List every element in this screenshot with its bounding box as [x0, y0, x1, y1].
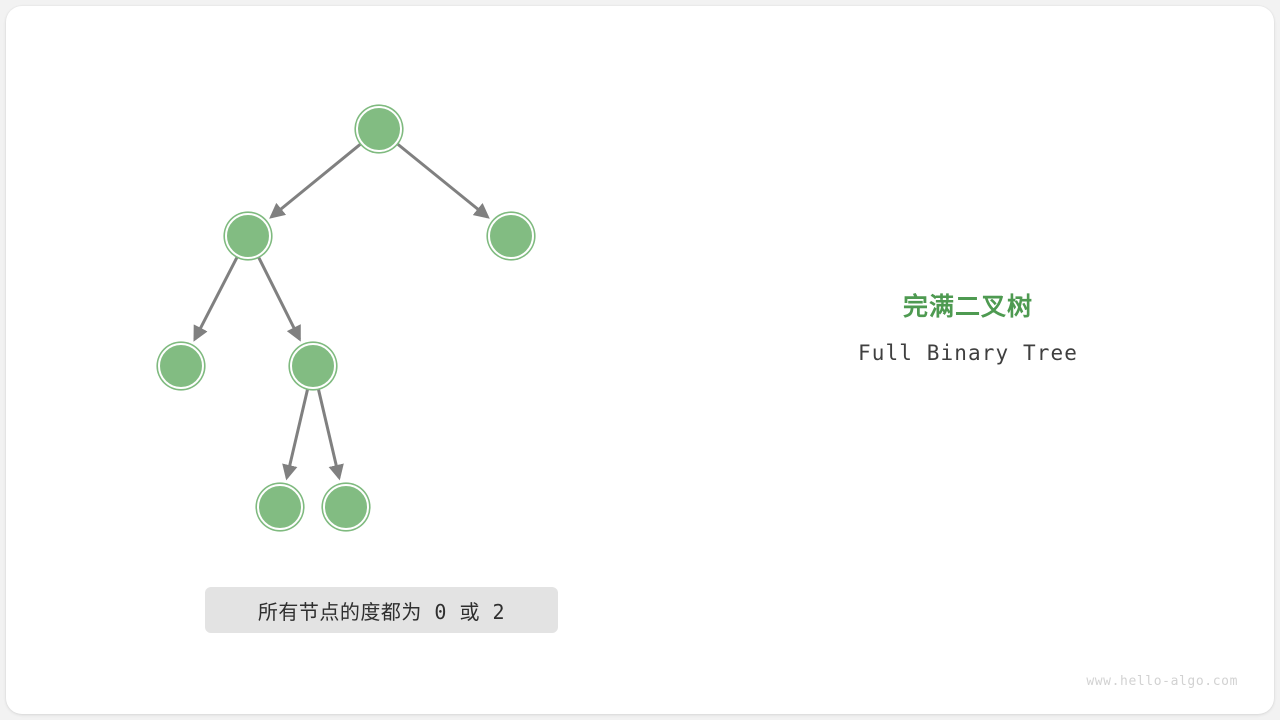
tree-node-n2 — [488, 213, 534, 259]
site-watermark: www.hello-algo.com — [1086, 674, 1238, 689]
diagram-page: 完满二叉树 Full Binary Tree 所有节点的度都为 0 或 2 ww… — [0, 0, 1280, 720]
tree-node-n5 — [257, 484, 303, 530]
tree-node-n1 — [225, 213, 271, 259]
tree-title-cn: 完满二叉树 — [768, 292, 1168, 322]
caption-chip: 所有节点的度都为 0 或 2 — [205, 587, 558, 633]
tree-node-n6 — [323, 484, 369, 530]
tree-node-n3 — [158, 343, 204, 389]
tree-title-en: Full Binary Tree — [768, 341, 1168, 365]
tree-node-n4 — [290, 343, 336, 389]
caption-text: 所有节点的度都为 0 或 2 — [258, 596, 505, 625]
tree-label-block: 完满二叉树 Full Binary Tree — [768, 292, 1168, 365]
tree-node-n0 — [356, 106, 402, 152]
